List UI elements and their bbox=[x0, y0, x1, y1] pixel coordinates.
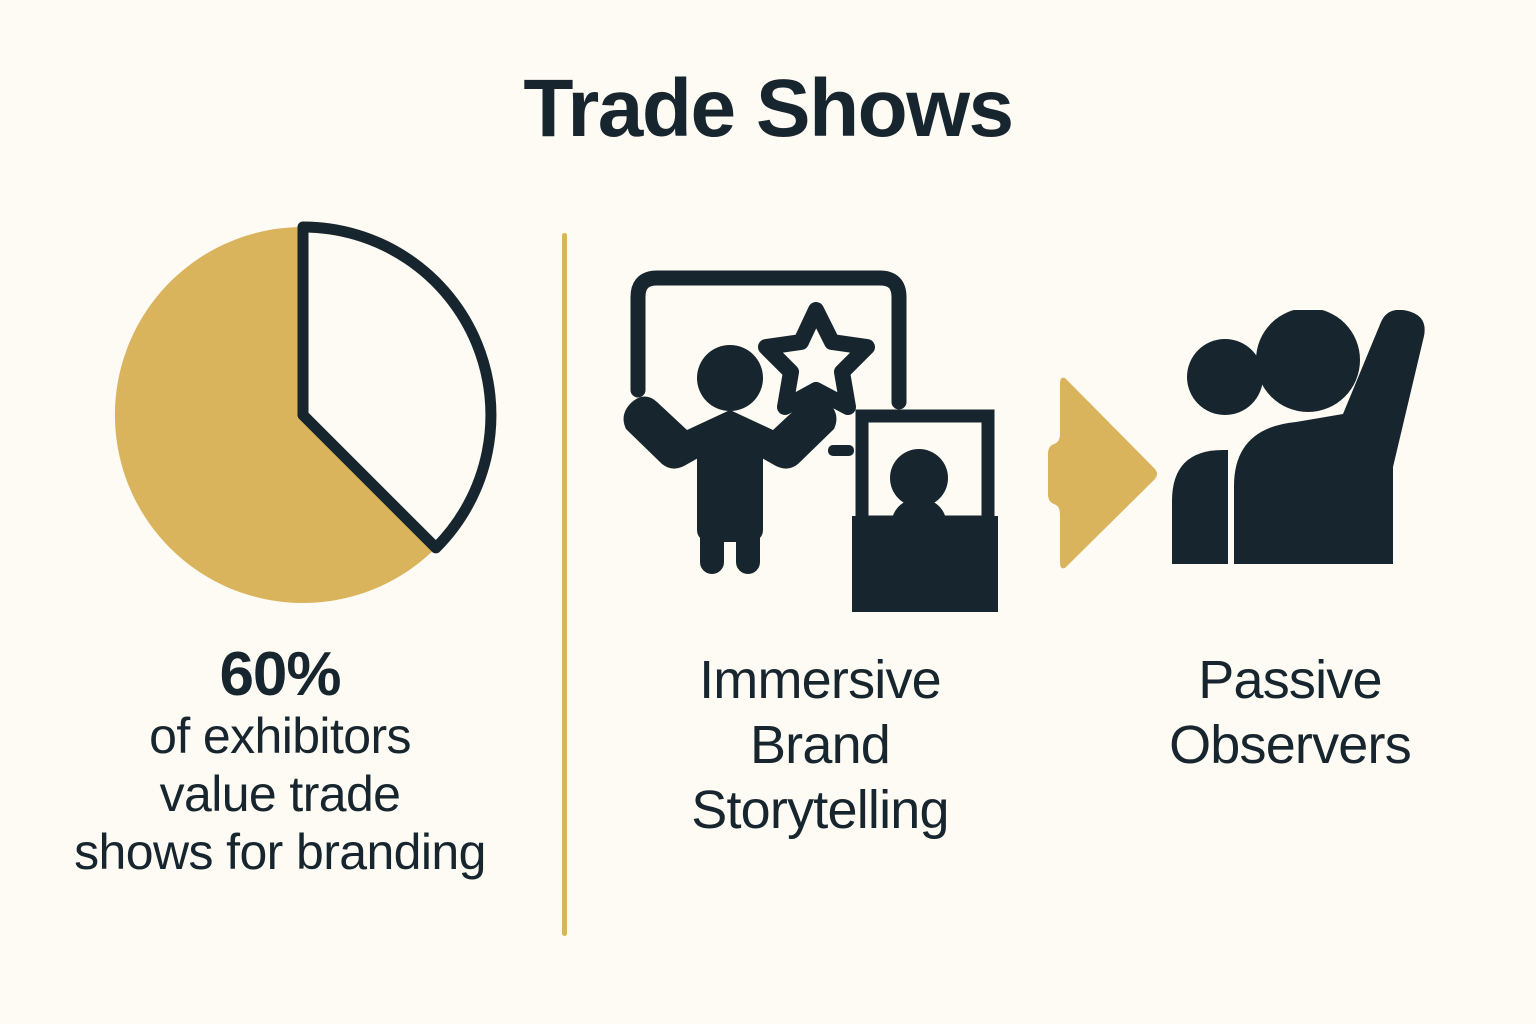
page-title: Trade Shows bbox=[0, 68, 1536, 150]
observer-large-head-icon bbox=[1256, 310, 1360, 412]
stat-text-block: 60% of exhibitors value trade shows for … bbox=[0, 642, 560, 881]
right-caption-line-2: Observers bbox=[1080, 713, 1500, 778]
infographic-canvas: Trade Shows 60% of exhibitors value trad… bbox=[0, 0, 1536, 1024]
stat-value: 60% bbox=[0, 642, 560, 707]
passive-observers-panel: Passive Observers bbox=[1040, 300, 1500, 930]
vertical-divider bbox=[562, 233, 567, 936]
observer-small-body-icon bbox=[1172, 450, 1228, 564]
attendant-head-icon bbox=[890, 449, 948, 507]
stat-caption-line-3: shows for branding bbox=[0, 823, 560, 881]
presenter-hip-icon bbox=[700, 480, 760, 516]
dash-accent-icon bbox=[828, 445, 854, 456]
arrow-right-icon bbox=[1048, 372, 1168, 572]
booth-counter-icon bbox=[852, 516, 998, 612]
middle-caption-block: Immersive Brand Storytelling bbox=[600, 648, 1040, 842]
stat-caption-line-2: value trade bbox=[0, 765, 560, 823]
star-icon bbox=[766, 310, 867, 407]
right-caption-line-1: Passive bbox=[1080, 648, 1500, 713]
cheering-crowd-icon bbox=[1168, 310, 1478, 610]
immersive-storytelling-panel: Immersive Brand Storytelling bbox=[600, 250, 1040, 930]
pie-chart bbox=[108, 220, 498, 610]
observer-small-head-icon bbox=[1187, 339, 1263, 415]
middle-caption-line-2: Brand bbox=[600, 713, 1040, 778]
middle-caption-line-3: Storytelling bbox=[600, 778, 1040, 843]
arrow-right-shape bbox=[1048, 378, 1157, 569]
middle-caption-line-1: Immersive bbox=[600, 648, 1040, 713]
presenter-head-icon bbox=[697, 345, 763, 411]
presenter-booth-star-icon bbox=[608, 250, 1028, 630]
stat-panel: 60% of exhibitors value trade shows for … bbox=[0, 220, 560, 940]
pie-chart-icon bbox=[108, 220, 498, 610]
right-caption-block: Passive Observers bbox=[1080, 648, 1500, 778]
stat-caption-line-1: of exhibitors bbox=[0, 707, 560, 765]
